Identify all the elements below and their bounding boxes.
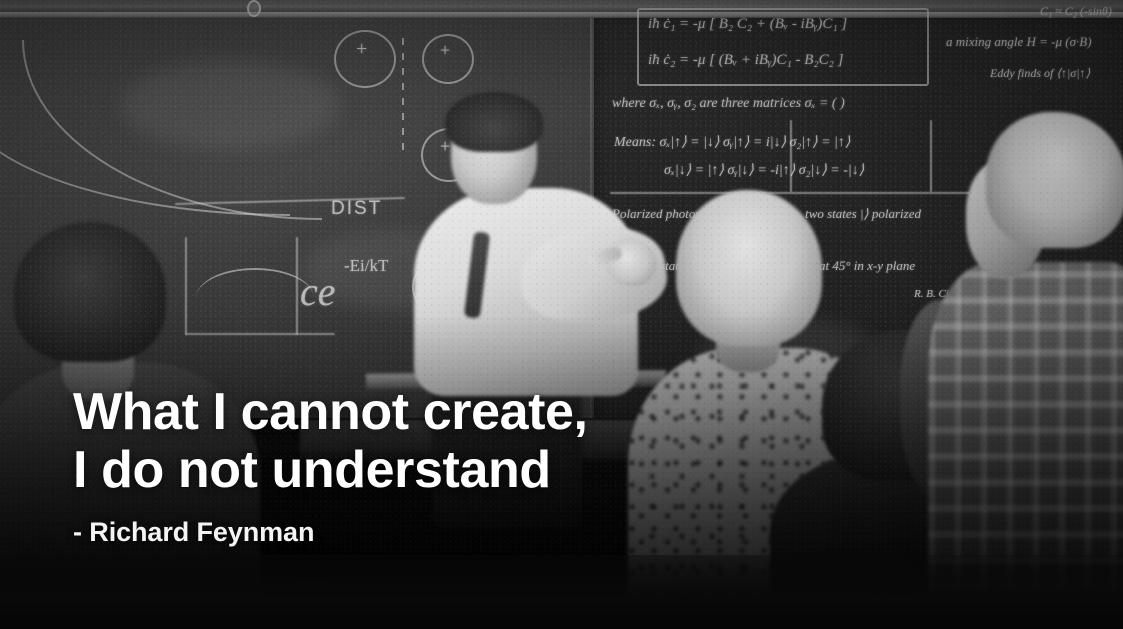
matrices-line: where σₓ, σᵧ, σ₂ are three matrices σₓ =… [612,96,845,112]
quote-line-2: I do not understand [73,441,588,499]
chalk-divider [930,120,932,192]
plot-x-axis [185,333,335,335]
boltzmann-factor: ce [300,268,336,315]
plus-sign-icon: + [440,40,450,61]
student-plaid-hair [986,112,1123,248]
quote-image: + + + + DIST ce -Ei/kT iħ ċ₁ = -μ [ B₂ … [0,0,1123,629]
dashed-axis [402,38,404,158]
plot-y-axis [185,237,187,335]
means-line-1: Means: σₓ|↑⟩ = |↓⟩ σᵧ|↑⟩ = i|↓⟩ σ₂|↑⟩ = … [614,134,850,151]
student-woman-hair [676,190,822,346]
eigenvalue-note: Eddy finds of ⟨↑|σ|↑⟩ [990,66,1090,81]
boxed-equation-1: iħ ċ₁ = -μ [ B₂ C₂ + (Bᵥ - iBᵧ)C₁ ] [648,16,847,33]
mixing-angle-note: a mixing angle H = -μ (σ·B) [946,34,1092,50]
student-foreground-left-hair [14,222,166,362]
feynman-hand [606,238,656,286]
top-right-note: C₁ ≈ C₂ (-sinθ) [1040,4,1112,19]
quote-attribution: - Richard Feynman [73,517,588,548]
rail-knob-icon [247,0,261,17]
boxed-equation-2: iħ ċ₂ = -μ [ (Bᵥ + iBᵧ)C₁ - B₂C₂ ] [648,52,843,69]
plus-sign-icon: + [356,38,367,61]
quote-line-1: What I cannot create, [73,383,588,441]
student-plaid-shirt [928,262,1123,629]
quote-overlay: What I cannot create, I do not understan… [73,383,588,548]
boltzmann-exponent: -Ei/kT [344,256,388,276]
distribution-hump [196,268,314,328]
feynman-hair [445,92,543,152]
dist-label: DIST [331,198,382,220]
chalk-divider [790,120,792,192]
chalk-divider [610,192,970,194]
means-line-2: σₓ|↓⟩ = |↑⟩ σᵧ|↓⟩ = -i|↑⟩ σ₂|↓⟩ = -|↓⟩ [664,162,864,179]
